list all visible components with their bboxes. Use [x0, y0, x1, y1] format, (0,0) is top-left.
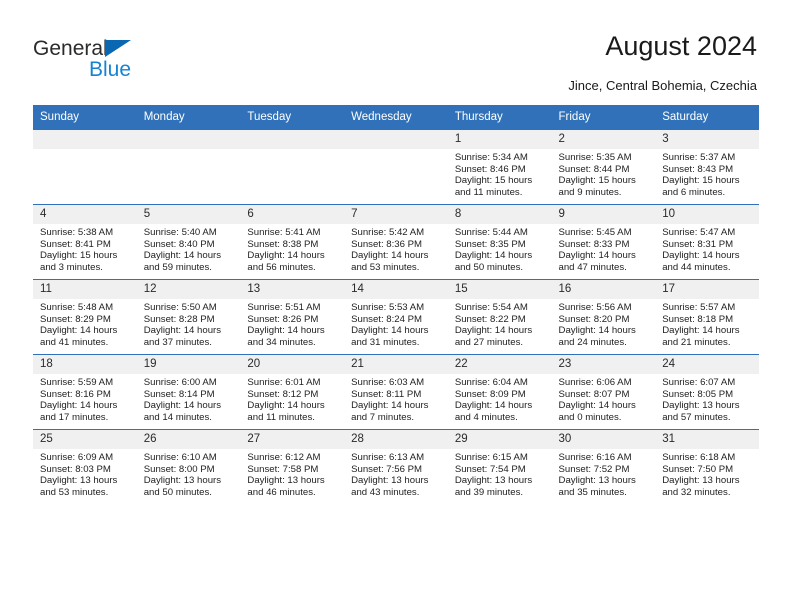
- calendar-day-cell[interactable]: 23Sunrise: 6:06 AMSunset: 8:07 PMDayligh…: [552, 355, 656, 430]
- calendar-day-cell[interactable]: 19Sunrise: 6:00 AMSunset: 8:14 PMDayligh…: [137, 355, 241, 430]
- sunrise-text: Sunrise: 5:45 AM: [559, 227, 652, 239]
- day-number: 24: [655, 355, 759, 374]
- calendar-day-cell[interactable]: 1Sunrise: 5:34 AMSunset: 8:46 PMDaylight…: [448, 130, 552, 205]
- calendar-day-cell[interactable]: 30Sunrise: 6:16 AMSunset: 7:52 PMDayligh…: [552, 430, 656, 505]
- sunrise-text: Sunrise: 6:01 AM: [247, 377, 340, 389]
- logo-text-blue: Blue: [89, 59, 131, 80]
- day-sun-info: Sunrise: 5:54 AMSunset: 8:22 PMDaylight:…: [448, 299, 552, 348]
- calendar-day-cell[interactable]: 7Sunrise: 5:42 AMSunset: 8:36 PMDaylight…: [344, 205, 448, 280]
- day-number: 20: [240, 355, 344, 374]
- sunrise-text: Sunrise: 6:13 AM: [351, 452, 444, 464]
- calendar-day-cell[interactable]: 25Sunrise: 6:09 AMSunset: 8:03 PMDayligh…: [33, 430, 137, 505]
- weekday-header-tuesday: Tuesday: [240, 105, 344, 130]
- generalblue-logo[interactable]: General Blue: [33, 38, 183, 84]
- day-number: 18: [33, 355, 137, 374]
- sunset-text: Sunset: 8:11 PM: [351, 389, 444, 401]
- day-number: 15: [448, 280, 552, 299]
- daylight-text: Daylight: 14 hours and 0 minutes.: [559, 400, 652, 423]
- sunset-text: Sunset: 7:54 PM: [455, 464, 548, 476]
- sunrise-text: Sunrise: 6:15 AM: [455, 452, 548, 464]
- calendar-day-cell[interactable]: 8Sunrise: 5:44 AMSunset: 8:35 PMDaylight…: [448, 205, 552, 280]
- day-sun-info: Sunrise: 6:16 AMSunset: 7:52 PMDaylight:…: [552, 449, 656, 498]
- day-number: 17: [655, 280, 759, 299]
- sunrise-text: Sunrise: 5:59 AM: [40, 377, 133, 389]
- sunset-text: Sunset: 8:00 PM: [144, 464, 237, 476]
- sunset-text: Sunset: 8:18 PM: [662, 314, 755, 326]
- daylight-text: Daylight: 15 hours and 3 minutes.: [40, 250, 133, 273]
- day-sun-info: Sunrise: 6:09 AMSunset: 8:03 PMDaylight:…: [33, 449, 137, 498]
- day-number: 27: [240, 430, 344, 449]
- day-number: 12: [137, 280, 241, 299]
- weekday-header-wednesday: Wednesday: [344, 105, 448, 130]
- day-number: 25: [33, 430, 137, 449]
- day-number: 21: [344, 355, 448, 374]
- day-sun-info: Sunrise: 5:47 AMSunset: 8:31 PMDaylight:…: [655, 224, 759, 273]
- weekday-header-friday: Friday: [552, 105, 656, 130]
- calendar-day-cell[interactable]: 16Sunrise: 5:56 AMSunset: 8:20 PMDayligh…: [552, 280, 656, 355]
- day-sun-info: Sunrise: 6:00 AMSunset: 8:14 PMDaylight:…: [137, 374, 241, 423]
- daylight-text: Daylight: 14 hours and 31 minutes.: [351, 325, 444, 348]
- day-number: 13: [240, 280, 344, 299]
- sunrise-text: Sunrise: 6:10 AM: [144, 452, 237, 464]
- day-number: 11: [33, 280, 137, 299]
- sunrise-text: Sunrise: 5:56 AM: [559, 302, 652, 314]
- day-number: 6: [240, 205, 344, 224]
- calendar-day-cell[interactable]: 6Sunrise: 5:41 AMSunset: 8:38 PMDaylight…: [240, 205, 344, 280]
- daylight-text: Daylight: 13 hours and 43 minutes.: [351, 475, 444, 498]
- daylight-text: Daylight: 13 hours and 35 minutes.: [559, 475, 652, 498]
- day-number: 22: [448, 355, 552, 374]
- sunset-text: Sunset: 7:56 PM: [351, 464, 444, 476]
- daylight-text: Daylight: 13 hours and 32 minutes.: [662, 475, 755, 498]
- sunset-text: Sunset: 8:09 PM: [455, 389, 548, 401]
- day-sun-info: Sunrise: 5:41 AMSunset: 8:38 PMDaylight:…: [240, 224, 344, 273]
- calendar-day-cell[interactable]: 15Sunrise: 5:54 AMSunset: 8:22 PMDayligh…: [448, 280, 552, 355]
- sunset-text: Sunset: 7:52 PM: [559, 464, 652, 476]
- day-sun-info: Sunrise: 5:57 AMSunset: 8:18 PMDaylight:…: [655, 299, 759, 348]
- day-number: 5: [137, 205, 241, 224]
- calendar-day-cell[interactable]: 22Sunrise: 6:04 AMSunset: 8:09 PMDayligh…: [448, 355, 552, 430]
- page-subtitle-location: Jince, Central Bohemia, Czechia: [568, 78, 757, 93]
- day-number: [33, 130, 137, 149]
- sunrise-text: Sunrise: 6:16 AM: [559, 452, 652, 464]
- daylight-text: Daylight: 14 hours and 17 minutes.: [40, 400, 133, 423]
- daylight-text: Daylight: 14 hours and 59 minutes.: [144, 250, 237, 273]
- day-number: 30: [552, 430, 656, 449]
- day-sun-info: Sunrise: 5:56 AMSunset: 8:20 PMDaylight:…: [552, 299, 656, 348]
- day-sun-info: Sunrise: 5:48 AMSunset: 8:29 PMDaylight:…: [33, 299, 137, 348]
- calendar-page: General Blue August 2024 Jince, Central …: [0, 0, 792, 612]
- daylight-text: Daylight: 14 hours and 7 minutes.: [351, 400, 444, 423]
- sunset-text: Sunset: 8:41 PM: [40, 239, 133, 251]
- sunrise-text: Sunrise: 5:41 AM: [247, 227, 340, 239]
- calendar-day-cell[interactable]: 29Sunrise: 6:15 AMSunset: 7:54 PMDayligh…: [448, 430, 552, 505]
- day-number: 3: [655, 130, 759, 149]
- sunset-text: Sunset: 8:31 PM: [662, 239, 755, 251]
- day-sun-info: Sunrise: 6:18 AMSunset: 7:50 PMDaylight:…: [655, 449, 759, 498]
- sunset-text: Sunset: 8:36 PM: [351, 239, 444, 251]
- daylight-text: Daylight: 15 hours and 11 minutes.: [455, 175, 548, 198]
- calendar-day-cell[interactable]: 20Sunrise: 6:01 AMSunset: 8:12 PMDayligh…: [240, 355, 344, 430]
- daylight-text: Daylight: 14 hours and 27 minutes.: [455, 325, 548, 348]
- weekday-header-saturday: Saturday: [655, 105, 759, 130]
- day-number: 29: [448, 430, 552, 449]
- day-number: 7: [344, 205, 448, 224]
- sunrise-text: Sunrise: 5:47 AM: [662, 227, 755, 239]
- sunset-text: Sunset: 8:24 PM: [351, 314, 444, 326]
- day-sun-info: Sunrise: 6:12 AMSunset: 7:58 PMDaylight:…: [240, 449, 344, 498]
- day-sun-info: Sunrise: 6:01 AMSunset: 8:12 PMDaylight:…: [240, 374, 344, 423]
- calendar-day-cell[interactable]: 18Sunrise: 5:59 AMSunset: 8:16 PMDayligh…: [33, 355, 137, 430]
- sunrise-text: Sunrise: 5:38 AM: [40, 227, 133, 239]
- sunset-text: Sunset: 8:29 PM: [40, 314, 133, 326]
- calendar-day-cell[interactable]: 11Sunrise: 5:48 AMSunset: 8:29 PMDayligh…: [33, 280, 137, 355]
- sunrise-text: Sunrise: 5:40 AM: [144, 227, 237, 239]
- daylight-text: Daylight: 14 hours and 24 minutes.: [559, 325, 652, 348]
- calendar-day-cell[interactable]: 13Sunrise: 5:51 AMSunset: 8:26 PMDayligh…: [240, 280, 344, 355]
- day-number: 2: [552, 130, 656, 149]
- day-sun-info: Sunrise: 5:34 AMSunset: 8:46 PMDaylight:…: [448, 149, 552, 198]
- day-sun-info: Sunrise: 6:15 AMSunset: 7:54 PMDaylight:…: [448, 449, 552, 498]
- sunset-text: Sunset: 8:40 PM: [144, 239, 237, 251]
- calendar-week-row: 11Sunrise: 5:48 AMSunset: 8:29 PMDayligh…: [33, 280, 759, 355]
- day-sun-info: Sunrise: 6:07 AMSunset: 8:05 PMDaylight:…: [655, 374, 759, 423]
- day-sun-info: Sunrise: 6:03 AMSunset: 8:11 PMDaylight:…: [344, 374, 448, 423]
- calendar-day-cell[interactable]: 17Sunrise: 5:57 AMSunset: 8:18 PMDayligh…: [655, 280, 759, 355]
- day-sun-info: Sunrise: 5:51 AMSunset: 8:26 PMDaylight:…: [240, 299, 344, 348]
- daylight-text: Daylight: 14 hours and 56 minutes.: [247, 250, 340, 273]
- logo-triangle-icon: [105, 40, 131, 57]
- day-number: 16: [552, 280, 656, 299]
- day-number: 19: [137, 355, 241, 374]
- calendar-day-cell-empty: [344, 130, 448, 205]
- page-header: General Blue August 2024 Jince, Central …: [0, 0, 792, 100]
- day-sun-info: Sunrise: 6:04 AMSunset: 8:09 PMDaylight:…: [448, 374, 552, 423]
- day-number: 23: [552, 355, 656, 374]
- calendar-day-cell[interactable]: 31Sunrise: 6:18 AMSunset: 7:50 PMDayligh…: [655, 430, 759, 505]
- calendar-day-cell[interactable]: 24Sunrise: 6:07 AMSunset: 8:05 PMDayligh…: [655, 355, 759, 430]
- day-number: [137, 130, 241, 149]
- day-sun-info: Sunrise: 5:53 AMSunset: 8:24 PMDaylight:…: [344, 299, 448, 348]
- sunrise-text: Sunrise: 5:37 AM: [662, 152, 755, 164]
- daylight-text: Daylight: 14 hours and 44 minutes.: [662, 250, 755, 273]
- sunrise-text: Sunrise: 6:06 AM: [559, 377, 652, 389]
- sunrise-text: Sunrise: 6:00 AM: [144, 377, 237, 389]
- day-sun-info: Sunrise: 5:42 AMSunset: 8:36 PMDaylight:…: [344, 224, 448, 273]
- calendar-day-cell[interactable]: 3Sunrise: 5:37 AMSunset: 8:43 PMDaylight…: [655, 130, 759, 205]
- calendar-day-cell[interactable]: 2Sunrise: 5:35 AMSunset: 8:44 PMDaylight…: [552, 130, 656, 205]
- day-sun-info: Sunrise: 6:06 AMSunset: 8:07 PMDaylight:…: [552, 374, 656, 423]
- daylight-text: Daylight: 14 hours and 4 minutes.: [455, 400, 548, 423]
- daylight-text: Daylight: 14 hours and 34 minutes.: [247, 325, 340, 348]
- sunset-text: Sunset: 8:35 PM: [455, 239, 548, 251]
- daylight-text: Daylight: 13 hours and 57 minutes.: [662, 400, 755, 423]
- daylight-text: Daylight: 14 hours and 11 minutes.: [247, 400, 340, 423]
- sunset-text: Sunset: 8:33 PM: [559, 239, 652, 251]
- sunrise-text: Sunrise: 5:48 AM: [40, 302, 133, 314]
- day-sun-info: Sunrise: 5:59 AMSunset: 8:16 PMDaylight:…: [33, 374, 137, 423]
- sunrise-text: Sunrise: 6:03 AM: [351, 377, 444, 389]
- sunrise-text: Sunrise: 5:53 AM: [351, 302, 444, 314]
- day-number: [240, 130, 344, 149]
- daylight-text: Daylight: 13 hours and 46 minutes.: [247, 475, 340, 498]
- calendar-day-cell[interactable]: 5Sunrise: 5:40 AMSunset: 8:40 PMDaylight…: [137, 205, 241, 280]
- calendar-week-row: 25Sunrise: 6:09 AMSunset: 8:03 PMDayligh…: [33, 430, 759, 505]
- day-number: 4: [33, 205, 137, 224]
- sunset-text: Sunset: 8:20 PM: [559, 314, 652, 326]
- sunrise-text: Sunrise: 6:07 AM: [662, 377, 755, 389]
- calendar-day-cell[interactable]: 21Sunrise: 6:03 AMSunset: 8:11 PMDayligh…: [344, 355, 448, 430]
- day-number: 26: [137, 430, 241, 449]
- day-sun-info: Sunrise: 5:38 AMSunset: 8:41 PMDaylight:…: [33, 224, 137, 273]
- sunset-text: Sunset: 8:07 PM: [559, 389, 652, 401]
- day-number: [344, 130, 448, 149]
- calendar-day-cell[interactable]: 9Sunrise: 5:45 AMSunset: 8:33 PMDaylight…: [552, 205, 656, 280]
- sunrise-text: Sunrise: 5:50 AM: [144, 302, 237, 314]
- sunset-text: Sunset: 8:46 PM: [455, 164, 548, 176]
- daylight-text: Daylight: 13 hours and 39 minutes.: [455, 475, 548, 498]
- sunset-text: Sunset: 8:44 PM: [559, 164, 652, 176]
- sunrise-text: Sunrise: 5:44 AM: [455, 227, 548, 239]
- day-number: 8: [448, 205, 552, 224]
- sunset-text: Sunset: 8:22 PM: [455, 314, 548, 326]
- calendar-day-cell[interactable]: 14Sunrise: 5:53 AMSunset: 8:24 PMDayligh…: [344, 280, 448, 355]
- sunset-text: Sunset: 8:28 PM: [144, 314, 237, 326]
- sunset-text: Sunset: 7:50 PM: [662, 464, 755, 476]
- daylight-text: Daylight: 14 hours and 37 minutes.: [144, 325, 237, 348]
- day-number: 31: [655, 430, 759, 449]
- daylight-text: Daylight: 13 hours and 53 minutes.: [40, 475, 133, 498]
- sunrise-text: Sunrise: 6:04 AM: [455, 377, 548, 389]
- sunset-text: Sunset: 8:38 PM: [247, 239, 340, 251]
- day-number: 9: [552, 205, 656, 224]
- sunrise-text: Sunrise: 5:35 AM: [559, 152, 652, 164]
- day-sun-info: Sunrise: 5:37 AMSunset: 8:43 PMDaylight:…: [655, 149, 759, 198]
- logo-text-general: General: [33, 38, 108, 59]
- day-sun-info: Sunrise: 6:13 AMSunset: 7:56 PMDaylight:…: [344, 449, 448, 498]
- sunset-text: Sunset: 7:58 PM: [247, 464, 340, 476]
- sunrise-text: Sunrise: 6:12 AM: [247, 452, 340, 464]
- daylight-text: Daylight: 15 hours and 6 minutes.: [662, 175, 755, 198]
- sunset-text: Sunset: 8:14 PM: [144, 389, 237, 401]
- calendar-week-row: 1Sunrise: 5:34 AMSunset: 8:46 PMDaylight…: [33, 130, 759, 205]
- daylight-text: Daylight: 14 hours and 47 minutes.: [559, 250, 652, 273]
- sunset-text: Sunset: 8:03 PM: [40, 464, 133, 476]
- day-sun-info: Sunrise: 5:44 AMSunset: 8:35 PMDaylight:…: [448, 224, 552, 273]
- daylight-text: Daylight: 14 hours and 53 minutes.: [351, 250, 444, 273]
- calendar-day-cell[interactable]: 4Sunrise: 5:38 AMSunset: 8:41 PMDaylight…: [33, 205, 137, 280]
- calendar-day-cell-empty: [240, 130, 344, 205]
- sunrise-text: Sunrise: 5:57 AM: [662, 302, 755, 314]
- calendar-week-row: 18Sunrise: 5:59 AMSunset: 8:16 PMDayligh…: [33, 355, 759, 430]
- day-number: 28: [344, 430, 448, 449]
- weekday-header-thursday: Thursday: [448, 105, 552, 130]
- sunrise-text: Sunrise: 6:09 AM: [40, 452, 133, 464]
- sunset-text: Sunset: 8:12 PM: [247, 389, 340, 401]
- sunset-text: Sunset: 8:43 PM: [662, 164, 755, 176]
- calendar-day-cell[interactable]: 28Sunrise: 6:13 AMSunset: 7:56 PMDayligh…: [344, 430, 448, 505]
- daylight-text: Daylight: 14 hours and 14 minutes.: [144, 400, 237, 423]
- sunrise-text: Sunrise: 5:34 AM: [455, 152, 548, 164]
- day-number: 14: [344, 280, 448, 299]
- calendar-day-cell[interactable]: 10Sunrise: 5:47 AMSunset: 8:31 PMDayligh…: [655, 205, 759, 280]
- weekday-header-sunday: Sunday: [33, 105, 137, 130]
- calendar-day-cell-empty: [33, 130, 137, 205]
- sunset-text: Sunset: 8:05 PM: [662, 389, 755, 401]
- daylight-text: Daylight: 14 hours and 21 minutes.: [662, 325, 755, 348]
- daylight-text: Daylight: 14 hours and 41 minutes.: [40, 325, 133, 348]
- day-number: 10: [655, 205, 759, 224]
- weekday-header-monday: Monday: [137, 105, 241, 130]
- day-sun-info: Sunrise: 5:35 AMSunset: 8:44 PMDaylight:…: [552, 149, 656, 198]
- daylight-text: Daylight: 13 hours and 50 minutes.: [144, 475, 237, 498]
- calendar-week-row: 4Sunrise: 5:38 AMSunset: 8:41 PMDaylight…: [33, 205, 759, 280]
- page-title: August 2024: [605, 30, 757, 62]
- day-sun-info: Sunrise: 6:10 AMSunset: 8:00 PMDaylight:…: [137, 449, 241, 498]
- sunrise-text: Sunrise: 5:42 AM: [351, 227, 444, 239]
- sunrise-text: Sunrise: 5:54 AM: [455, 302, 548, 314]
- calendar-grid: Sunday Monday Tuesday Wednesday Thursday…: [33, 105, 759, 504]
- sunset-text: Sunset: 8:26 PM: [247, 314, 340, 326]
- calendar-day-cell[interactable]: 12Sunrise: 5:50 AMSunset: 8:28 PMDayligh…: [137, 280, 241, 355]
- daylight-text: Daylight: 14 hours and 50 minutes.: [455, 250, 548, 273]
- calendar-day-cell[interactable]: 27Sunrise: 6:12 AMSunset: 7:58 PMDayligh…: [240, 430, 344, 505]
- sunrise-text: Sunrise: 5:51 AM: [247, 302, 340, 314]
- sunset-text: Sunset: 8:16 PM: [40, 389, 133, 401]
- sunrise-text: Sunrise: 6:18 AM: [662, 452, 755, 464]
- calendar-day-cell-empty: [137, 130, 241, 205]
- calendar-body: 1Sunrise: 5:34 AMSunset: 8:46 PMDaylight…: [33, 130, 759, 505]
- day-sun-info: Sunrise: 5:50 AMSunset: 8:28 PMDaylight:…: [137, 299, 241, 348]
- day-sun-info: Sunrise: 5:40 AMSunset: 8:40 PMDaylight:…: [137, 224, 241, 273]
- day-sun-info: Sunrise: 5:45 AMSunset: 8:33 PMDaylight:…: [552, 224, 656, 273]
- day-number: 1: [448, 130, 552, 149]
- weekday-header-row: Sunday Monday Tuesday Wednesday Thursday…: [33, 105, 759, 130]
- daylight-text: Daylight: 15 hours and 9 minutes.: [559, 175, 652, 198]
- calendar-day-cell[interactable]: 26Sunrise: 6:10 AMSunset: 8:00 PMDayligh…: [137, 430, 241, 505]
